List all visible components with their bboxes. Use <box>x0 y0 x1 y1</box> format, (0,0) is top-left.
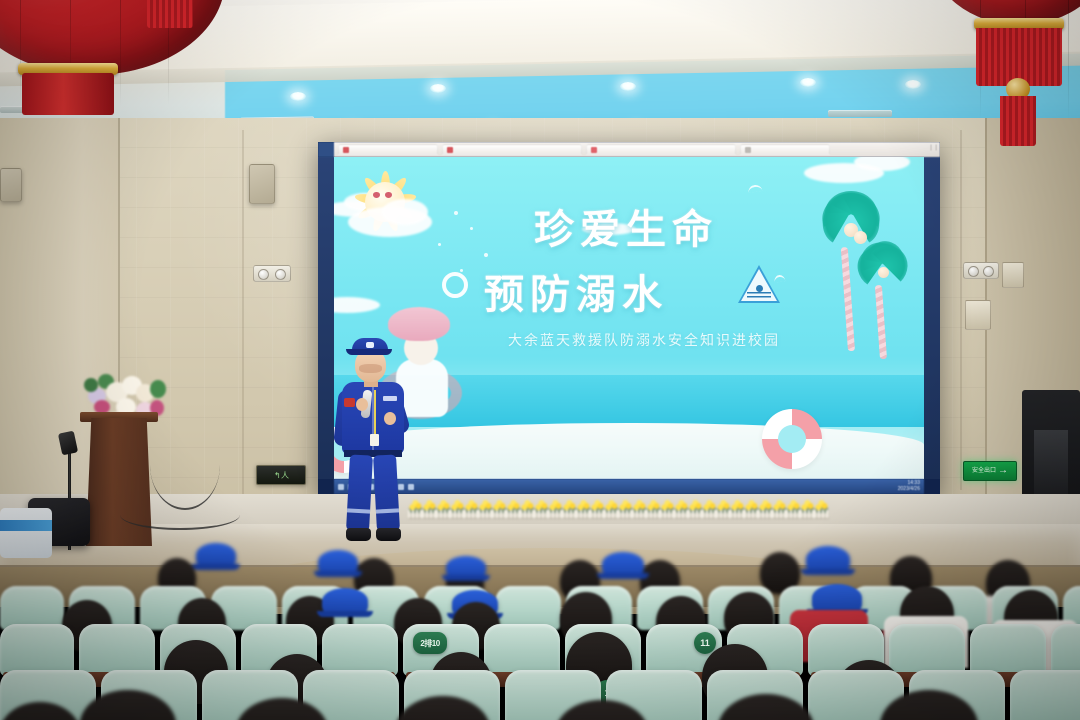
sparkle-dot <box>484 253 488 257</box>
emergency-light <box>253 265 291 282</box>
flower-planter <box>730 497 745 519</box>
flower-planter <box>548 497 563 519</box>
coconut-icon <box>878 267 889 278</box>
ceiling-downlight <box>800 78 816 87</box>
presenter-face-shadow <box>359 364 382 373</box>
flower-planter <box>772 497 787 519</box>
wall-speaker <box>249 164 275 204</box>
flower-planter <box>674 497 689 519</box>
presenter-id-badge <box>370 434 379 446</box>
student-blue-cap <box>806 546 850 572</box>
lantern-tassel <box>147 0 193 28</box>
flower-planter <box>660 497 675 519</box>
auditorium-seat[interactable] <box>889 624 965 676</box>
ceiling-downlight <box>620 82 636 91</box>
seat-row-2: 2排10 11 <box>0 624 1080 676</box>
presenter-cap-brim <box>346 349 392 355</box>
auditorium-seat[interactable] <box>1051 624 1080 676</box>
screen-right-band <box>924 157 940 479</box>
tab-favicon-icon <box>343 147 349 153</box>
student-blue-cap <box>602 552 644 576</box>
tab-favicon-icon <box>745 147 751 153</box>
sun-eye-right <box>385 192 392 198</box>
life-ring-icon <box>762 409 822 469</box>
wall-seam <box>242 130 244 500</box>
palm-trunk <box>874 285 886 359</box>
palm-tree-icon <box>846 249 920 359</box>
lantern-rib <box>1068 0 1069 120</box>
arrow-right-icon: → <box>998 466 1008 476</box>
coconut-icon <box>854 231 867 244</box>
exit-sign-green: 安全出口 → <box>963 461 1017 481</box>
sun-eye-left <box>373 192 380 198</box>
auditorium-seat[interactable] <box>970 624 1046 676</box>
browser-tab-bar[interactable]: | | <box>318 142 940 157</box>
flower-planter <box>814 497 829 519</box>
audience: 2排10 11 1 <box>0 540 1080 720</box>
flower-planter <box>576 497 591 519</box>
floor-cable <box>150 420 220 510</box>
side-cabinet-panel <box>1034 430 1068 500</box>
flower-planter <box>534 497 549 519</box>
auditorium-seat[interactable] <box>484 624 560 676</box>
flower-planter <box>744 497 759 519</box>
ceiling-downlight <box>905 80 921 89</box>
wall-seam <box>960 130 962 490</box>
presenter-leg-right <box>373 454 400 531</box>
reflective-stripe <box>376 508 399 513</box>
windows-taskbar[interactable]: 14:33 2023/4/26 <box>334 479 924 494</box>
flower-planter <box>688 497 703 519</box>
browser-tab[interactable] <box>586 144 736 155</box>
auditorium-seat[interactable] <box>79 624 155 676</box>
seagull-icon <box>748 184 763 193</box>
student-blue-cap <box>446 556 486 578</box>
flower-planter <box>800 497 815 519</box>
taskbar-clock[interactable]: 14:33 2023/4/26 <box>898 481 920 492</box>
flower-planter <box>632 497 647 519</box>
emergency-light <box>963 262 999 279</box>
wall-panel-plate <box>1002 262 1024 288</box>
student-blue-cap <box>322 588 368 614</box>
girl-sun-hat <box>388 307 450 341</box>
presenter-leg-left <box>346 454 373 531</box>
flower-planter <box>702 497 717 519</box>
presentation-slide: 珍爱生命 预防溺水 大余蓝天救援队防溺水安全知识进校园 <box>334 157 924 479</box>
tab-favicon-icon <box>591 147 597 153</box>
auditorium-seat[interactable] <box>1010 670 1080 720</box>
flower-planter <box>506 497 521 519</box>
red-lantern-center <box>115 0 225 32</box>
flower-planter <box>590 497 605 519</box>
browser-tab[interactable] <box>338 144 438 155</box>
drowning-person-icon <box>756 285 763 292</box>
presenter-hand-left <box>356 398 368 411</box>
presenter-name-patch <box>383 396 397 401</box>
browser-tab[interactable] <box>740 144 830 155</box>
stage-flower-planters <box>408 497 878 519</box>
sparkle-dot <box>470 227 473 230</box>
lantern-tassel-lower <box>1000 96 1036 146</box>
floor-cable <box>120 500 240 530</box>
clock-date: 2023/4/26 <box>898 487 920 493</box>
tab-favicon-icon <box>447 147 453 153</box>
auditorium-photo: ↰ 人 安全出口 → <box>0 0 1080 720</box>
flower-planter <box>716 497 731 519</box>
sparkle-dot <box>438 243 441 246</box>
presenter <box>326 338 422 550</box>
auditorium-seat[interactable] <box>322 624 398 676</box>
presenter-lanyard <box>374 390 376 434</box>
red-lantern-right <box>930 0 1080 130</box>
sparkle-dot <box>454 211 458 215</box>
flower-planter <box>758 497 773 519</box>
lantern-rib <box>20 0 21 106</box>
presenter-legs <box>346 455 400 531</box>
wall-panel-plate <box>965 300 991 330</box>
ceiling-downlight <box>290 92 306 101</box>
seat-number-badge: 2排10 <box>413 632 447 654</box>
flower-planter <box>520 497 535 519</box>
bag-band <box>0 520 52 531</box>
flower-planter <box>618 497 633 519</box>
flower-planter <box>436 497 451 519</box>
student-blue-cap <box>196 543 236 567</box>
flower-planter <box>478 497 493 519</box>
student-blue-cap <box>318 550 358 574</box>
lantern-neck <box>22 73 114 115</box>
flower-planter <box>646 497 661 519</box>
running-person-icon: ↰ 人 <box>274 470 288 481</box>
flower-planter <box>464 497 479 519</box>
exit-sign-text: 安全出口 <box>972 468 996 474</box>
cloud-icon <box>382 199 428 225</box>
drowning-warning-triangle-icon <box>738 265 780 303</box>
browser-menu-button[interactable] <box>318 142 334 157</box>
flower-planter <box>422 497 437 519</box>
presenter-hand-right <box>384 412 396 425</box>
reflective-stripe <box>347 508 370 513</box>
seat-number-badge: 11 <box>694 632 716 654</box>
flower-planter <box>786 497 801 519</box>
evacuation-sign: ↰ 人 <box>256 465 306 485</box>
presenter-cap-logo <box>366 342 374 348</box>
flower-planter <box>562 497 577 519</box>
auditorium-seat[interactable] <box>0 624 74 676</box>
bullet-circle-icon <box>442 272 468 298</box>
slide-title-line2: 预防溺水 <box>484 262 668 320</box>
cloud-icon <box>334 297 380 313</box>
slide-subtitle: 大余蓝天救援队防溺水安全知识进校园 <box>454 330 834 350</box>
wall-speaker <box>0 168 22 202</box>
flower-planter <box>450 497 465 519</box>
flower-planter <box>604 497 619 519</box>
slide-title-line1: 珍爱生命 <box>534 197 718 255</box>
flower-planter <box>492 497 507 519</box>
ceiling-downlight <box>430 84 446 93</box>
presenter-flag-patch <box>344 398 355 407</box>
student-blue-cap <box>812 584 862 612</box>
window-controls[interactable]: | | <box>930 145 938 151</box>
sparkle-dot <box>460 269 463 272</box>
water-waves-icon <box>747 292 771 300</box>
browser-tab[interactable] <box>442 144 582 155</box>
ceiling-air-vent <box>828 110 892 117</box>
slide-sand <box>334 423 924 479</box>
